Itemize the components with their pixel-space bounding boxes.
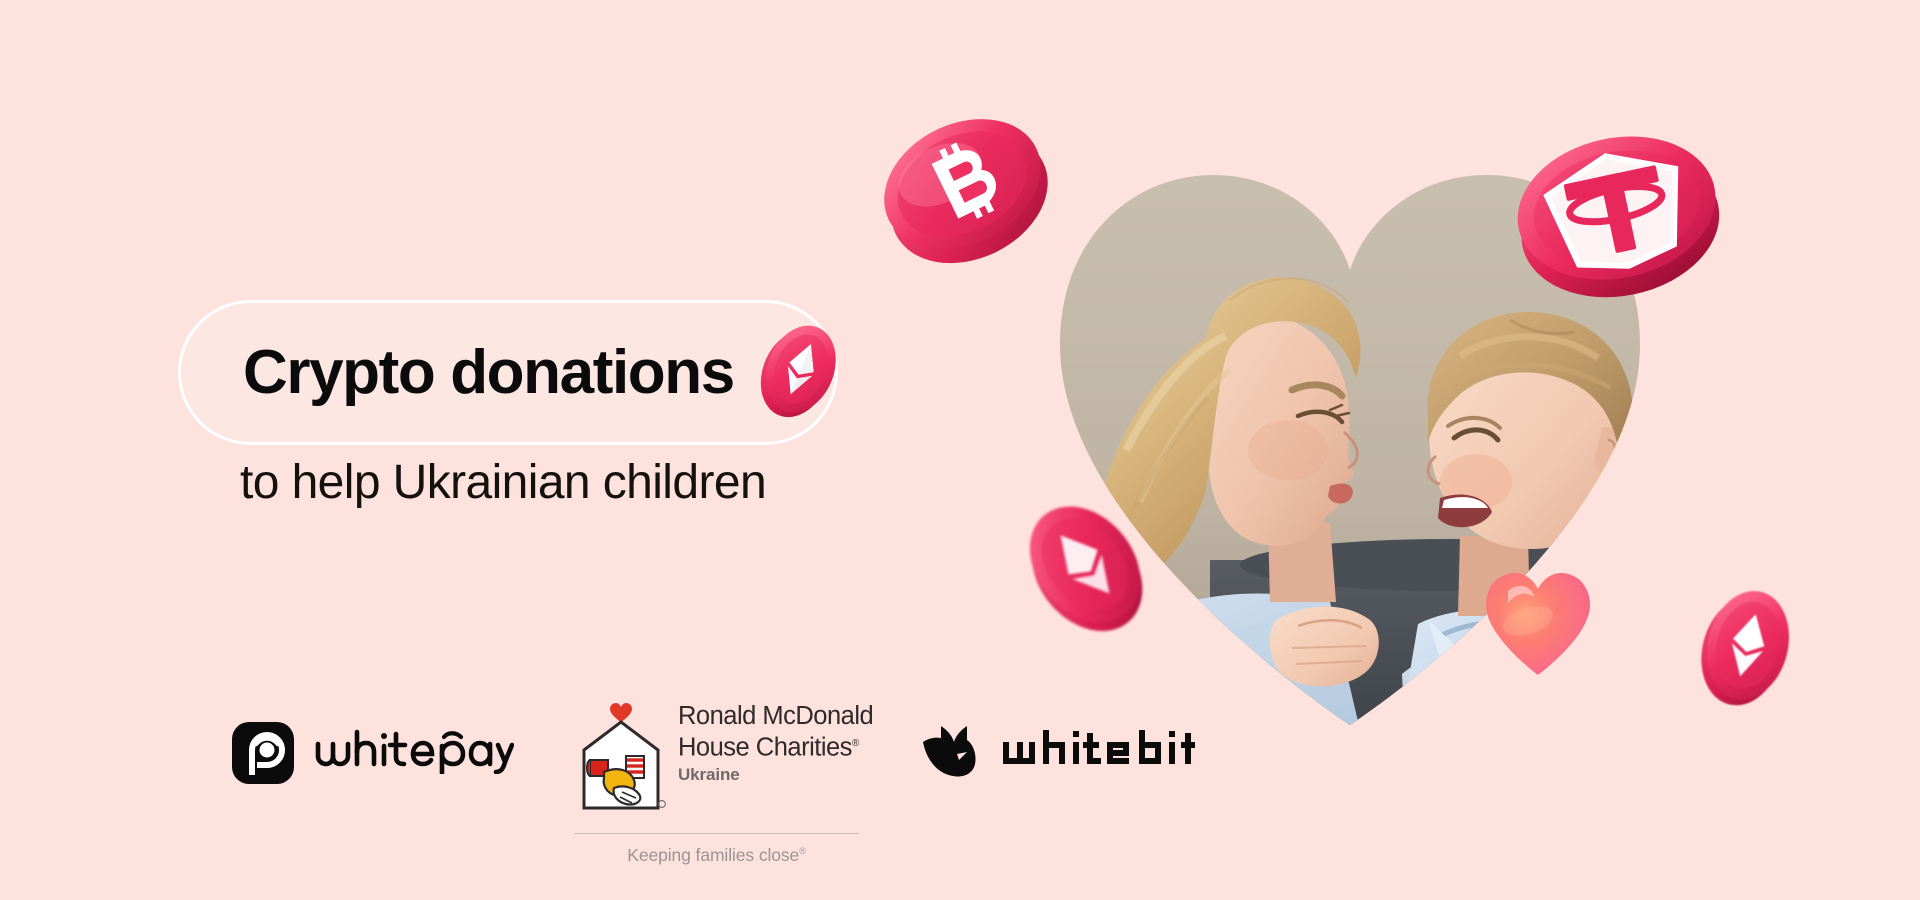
ethereum-coin-icon (1690, 580, 1805, 710)
ethereum-coin-left (1000, 495, 1165, 640)
whitepay-logo[interactable] (232, 722, 514, 784)
partner-logo-row: Ronald McDonald House Charities® Ukraine… (232, 700, 1197, 866)
ethereum-coin-icon (748, 318, 848, 418)
whitebit-wordmark (1001, 728, 1197, 777)
tether-coin-icon (1500, 118, 1735, 303)
rmhc-line1: Ronald McDonald (678, 703, 873, 730)
rmhc-country: Ukraine (678, 765, 873, 785)
heart-3d-icon (1478, 565, 1598, 680)
ethereum-coin-icon (1000, 495, 1165, 640)
whitepay-mark-icon (232, 722, 294, 784)
ethereum-coin-bottom (1690, 580, 1805, 710)
rmhc-line2: House Charities® (678, 730, 873, 762)
rmhc-logo[interactable]: Ronald McDonald House Charities® Ukraine… (574, 700, 859, 866)
tagline-registered-mark: ® (799, 846, 806, 856)
rmhc-divider (574, 833, 859, 834)
whitebit-logo[interactable] (921, 722, 1197, 783)
ethereum-coin-pill (748, 318, 848, 418)
registered-mark: ® (852, 738, 859, 749)
bitcoin-coin-icon (862, 78, 1062, 288)
heart-3d-shape (1478, 565, 1598, 680)
bitcoin-coin (862, 78, 1062, 288)
promotional-banner: Crypto donations to help Ukrainian child… (0, 0, 1920, 900)
page-subtitle: to help Ukrainian children (240, 455, 766, 510)
rmhc-house-icon (574, 700, 669, 820)
whitepay-wordmark (314, 728, 514, 779)
page-title: Crypto donations (243, 337, 734, 408)
tether-coin (1500, 118, 1735, 303)
whitebit-mark-icon (921, 722, 983, 783)
headline-pill: Crypto donations (178, 300, 838, 445)
rmhc-tagline: Keeping families close® (574, 845, 859, 866)
